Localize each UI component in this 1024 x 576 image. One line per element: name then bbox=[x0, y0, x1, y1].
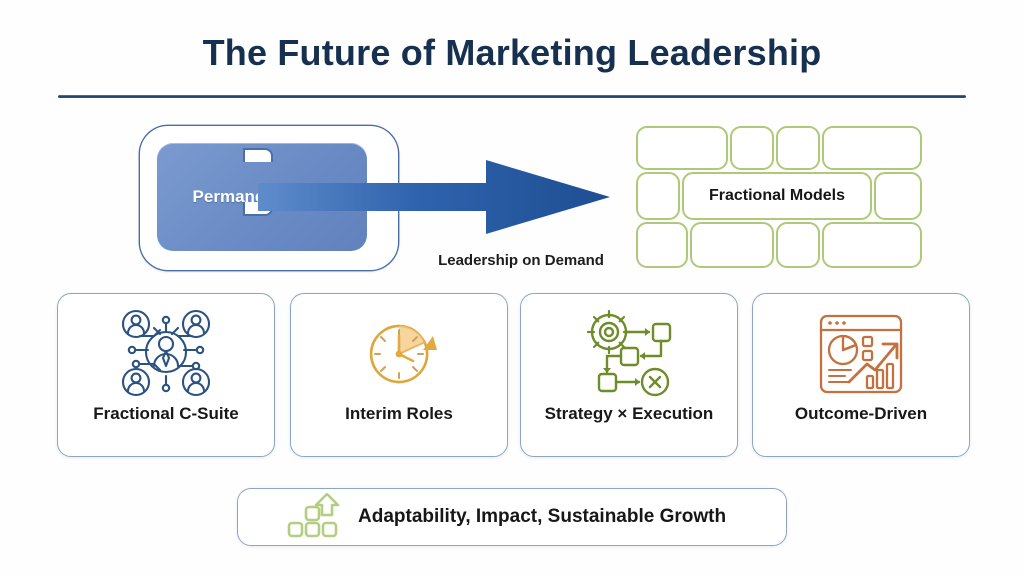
brick bbox=[776, 126, 820, 170]
brick bbox=[874, 172, 922, 220]
people-network-icon bbox=[114, 306, 218, 402]
brick bbox=[636, 222, 688, 268]
brick bbox=[776, 222, 820, 268]
card-interim-roles[interactable]: Interim Roles bbox=[290, 293, 508, 457]
transition-label: Leadership on Demand bbox=[396, 252, 646, 269]
brick bbox=[822, 126, 922, 170]
card-label: Strategy × Execution bbox=[545, 404, 714, 424]
card-label: Outcome-Driven bbox=[795, 404, 927, 424]
card-label: Interim Roles bbox=[345, 404, 453, 424]
right-arrow-icon bbox=[258, 160, 610, 234]
clock-refresh-icon bbox=[347, 306, 451, 402]
infographic-slide: The Future of Marketing Leadership Perma… bbox=[0, 0, 1024, 576]
brick bbox=[822, 222, 922, 268]
gear-workflow-icon bbox=[577, 306, 681, 402]
transformation-flow: Permanent Roles Leadership on Demand bbox=[0, 112, 1024, 277]
title-divider bbox=[58, 95, 966, 98]
page-title: The Future of Marketing Leadership bbox=[0, 32, 1024, 74]
analytics-dashboard-icon bbox=[809, 306, 913, 402]
card-label: Fractional C-Suite bbox=[93, 404, 238, 424]
fractional-models-label: Fractional Models bbox=[709, 187, 845, 205]
card-fractional-c-suite[interactable]: Fractional C-Suite bbox=[57, 293, 275, 457]
brick bbox=[730, 126, 774, 170]
card-strategy-execution[interactable]: Strategy × Execution bbox=[520, 293, 738, 457]
banner-label: Adaptability, Impact, Sustainable Growth bbox=[358, 506, 726, 528]
fractional-models-block: Fractional Models bbox=[682, 172, 872, 220]
brick bbox=[636, 126, 728, 170]
summary-banner[interactable]: Adaptability, Impact, Sustainable Growth bbox=[237, 488, 787, 546]
card-outcome-driven[interactable]: Outcome-Driven bbox=[752, 293, 970, 457]
brick bbox=[636, 172, 680, 220]
brick-cluster-icon[interactable]: Fractional Models bbox=[632, 122, 922, 270]
growth-blocks-arrow-icon bbox=[286, 493, 344, 541]
brick bbox=[690, 222, 774, 268]
